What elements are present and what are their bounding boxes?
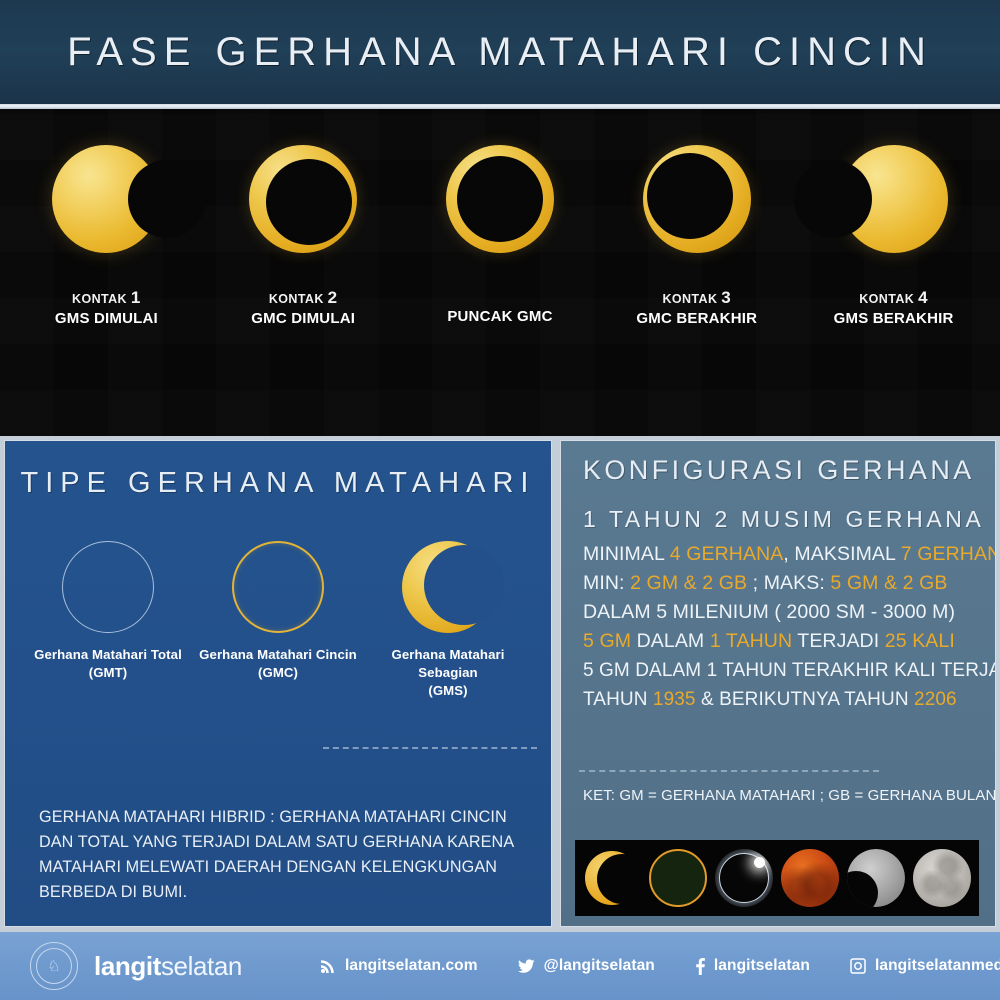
- value-year-next: 2206: [914, 689, 957, 710]
- type-abbr: (GMC): [196, 664, 361, 682]
- annular-solar-eclipse-photo: [649, 849, 707, 907]
- text-prefix: MIN:: [583, 572, 630, 594]
- config-line-terakhir-1: 5 GM DALAM 1 TAHUN TERAKHIR KALI TERJADI: [583, 656, 977, 685]
- contact-label: KONTAK: [859, 292, 914, 306]
- phase-caption: KONTAK 4 GMS BERAKHIR: [799, 289, 989, 329]
- eclipse-phases-section: KONTAK 1 GMS DIMULAI KONTAK 2: [0, 109, 1000, 436]
- seal-inner-ring: ♘: [36, 948, 72, 984]
- contact-label: KONTAK: [72, 292, 127, 306]
- social-link-instagram[interactable]: langitselatanmedia: [850, 957, 1000, 975]
- type-item-gmc: Gerhana Matahari Cincin (GMC): [196, 528, 361, 682]
- type-abbr: (GMT): [26, 664, 191, 682]
- annular-ring-icon: [249, 145, 357, 253]
- partial-sun-bite-left-icon: [840, 145, 948, 253]
- config-line-terakhir-2: TAHUN 1935 & BERIKUTNYA TAHUN 2206: [583, 685, 977, 714]
- phase-art: [208, 109, 398, 289]
- facebook-icon: [695, 958, 705, 975]
- social-link-label: @langitselatan: [544, 957, 655, 975]
- type-item-gms: Gerhana Matahari Sebagian (GMS): [366, 528, 531, 700]
- phase-item-puncak: PUNCAK GMC: [405, 109, 595, 327]
- phase-item-kontak-1: KONTAK 1 GMS DIMULAI: [11, 109, 201, 329]
- config-legend-note: KET: GM = GERHANA MATAHARI ; GB = GERHAN…: [583, 787, 985, 804]
- value-25-kali: 25 KALI: [885, 630, 955, 652]
- phase-caption: KONTAK 2 GMC DIMULAI: [208, 289, 398, 329]
- value-year-last: 1935: [653, 689, 696, 710]
- phase-name: GMS DIMULAI: [11, 309, 201, 329]
- annular-ring-icon: [643, 145, 751, 253]
- type-name: Gerhana Matahari Cincin: [196, 646, 361, 664]
- phase-art: [799, 109, 989, 289]
- right-panel-divider: [579, 770, 879, 772]
- social-link-label: langitselatanmedia: [875, 957, 1000, 975]
- infographic-poster: FASE GERHANA MATAHARI CINCIN KONTAK 1 GM…: [0, 0, 1000, 1000]
- contact-label: KONTAK: [269, 292, 324, 306]
- type-abbr: (GMS): [366, 682, 531, 700]
- config-headline: 1 TAHUN 2 MUSIM GERHANA: [583, 506, 977, 533]
- type-name: Gerhana Matahari Total: [26, 646, 191, 664]
- rider-glyph-icon: ♘: [47, 959, 60, 974]
- total-eclipse-circle-icon: [62, 541, 154, 633]
- type-item-gmt: Gerhana Matahari Total (GMT): [26, 528, 191, 682]
- text-mid: , MAKSIMAL: [783, 543, 900, 565]
- config-line-minmax: MINIMAL 4 GERHANA, MAKSIMAL 7 GERHANA: [583, 540, 977, 569]
- social-links: langitselatan.com @langitselatan langits…: [320, 957, 1000, 975]
- twitter-icon: [518, 959, 535, 974]
- phase-item-kontak-2: KONTAK 2 GMC DIMULAI: [208, 109, 398, 329]
- social-link-twitter[interactable]: @langitselatan: [518, 957, 655, 975]
- moon-shadow: [647, 153, 733, 239]
- hybrid-eclipse-note: GERHANA MATAHARI HIBRID : GERHANA MATAHA…: [39, 805, 525, 905]
- annular-ring-centered-icon: [446, 145, 554, 253]
- types-panel: TIPE GERHANA MATAHARI Gerhana Matahari T…: [4, 440, 552, 927]
- brand-logo[interactable]: ♘ langitselatan: [30, 942, 242, 990]
- phase-art: [11, 109, 201, 289]
- contact-number: 3: [721, 288, 731, 307]
- eclipse-photo-gallery: [575, 840, 979, 916]
- phase-art: [602, 109, 792, 289]
- moon-shadow: [597, 854, 641, 904]
- contact-number: 1: [131, 288, 141, 307]
- value-1-tahun: 1 TAHUN: [710, 630, 792, 652]
- text-prefix: MINIMAL: [583, 543, 670, 565]
- config-line-5gm: 5 GM DALAM 1 TAHUN TERJADI 25 KALI: [583, 627, 977, 656]
- value-max-eclipses: 7 GERHANA: [901, 543, 996, 565]
- phase-name: GMC BERAKHIR: [602, 309, 792, 329]
- config-line-minmaks-gm-gb: MIN: 2 GM & 2 GB ; MAKS: 5 GM & 2 GB: [583, 569, 977, 598]
- phase-caption: KONTAK 3 GMC BERAKHIR: [602, 289, 792, 329]
- text-mid: ; MAKS:: [747, 572, 830, 594]
- value-min-gm-gb: 2 GM & 2 GB: [630, 572, 747, 594]
- config-lines: 1 TAHUN 2 MUSIM GERHANA MINIMAL 4 GERHAN…: [561, 500, 995, 714]
- phase-contact-line: KONTAK 1: [11, 289, 201, 308]
- full-moon-photo: [913, 849, 971, 907]
- phase-contact-line: KONTAK 4: [799, 289, 989, 308]
- moon-shadow: [266, 159, 352, 245]
- type-name: Gerhana Matahari Sebagian: [366, 646, 531, 682]
- phase-item-kontak-3: KONTAK 3 GMC BERAKHIR: [602, 109, 792, 329]
- brand-name-bold: langit: [94, 951, 161, 981]
- config-panel-title: KONFIGURASI GERHANA: [561, 455, 995, 486]
- type-art: [26, 528, 191, 646]
- phase-art: [405, 109, 595, 289]
- text-prefix: TAHUN: [583, 689, 653, 710]
- phase-contact-line: KONTAK 3: [602, 289, 792, 308]
- social-link-website[interactable]: langitselatan.com: [320, 957, 478, 975]
- config-panel: KONFIGURASI GERHANA 1 TAHUN 2 MUSIM GERH…: [560, 440, 996, 927]
- contact-label: KONTAK: [662, 292, 717, 306]
- brand-name-light: selatan: [161, 951, 242, 981]
- text-mid: & BERIKUTNYA TAHUN: [696, 689, 914, 710]
- social-link-label: langitselatan: [714, 957, 810, 975]
- contact-number: 4: [918, 288, 928, 307]
- config-line-milenium: DALAM 5 MILENIUM ( 2000 SM - 3000 M): [583, 598, 977, 627]
- langitselatan-seal-icon: ♘: [30, 942, 78, 990]
- eclipse-types-row: Gerhana Matahari Total (GMT) Gerhana Mat…: [5, 528, 551, 700]
- phase-caption: PUNCAK GMC: [405, 307, 595, 327]
- instagram-icon: [850, 958, 866, 974]
- moon-shadow: [457, 156, 543, 242]
- social-link-label: langitselatan.com: [345, 957, 478, 975]
- value-min-eclipses: 4 GERHANA: [670, 543, 784, 565]
- lower-panels: TIPE GERHANA MATAHARI Gerhana Matahari T…: [0, 440, 1000, 927]
- phase-contact-line: KONTAK 2: [208, 289, 398, 308]
- social-link-facebook[interactable]: langitselatan: [695, 957, 810, 975]
- rss-icon: [320, 958, 336, 974]
- phase-item-kontak-4: KONTAK 4 GMS BERAKHIR: [799, 109, 989, 329]
- type-art: [366, 528, 531, 646]
- blood-moon-lunar-eclipse-photo: [781, 849, 839, 907]
- value-max-gm-gb: 5 GM & 2 GB: [830, 572, 947, 594]
- text-mid-1: DALAM: [631, 630, 710, 652]
- phase-name: GMS BERAKHIR: [799, 309, 989, 329]
- phase-caption: KONTAK 1 GMS DIMULAI: [11, 289, 201, 329]
- phase-name: PUNCAK GMC: [405, 307, 595, 327]
- phase-row: KONTAK 1 GMS DIMULAI KONTAK 2: [0, 109, 1000, 436]
- moon-shadow: [128, 160, 206, 238]
- types-panel-title: TIPE GERHANA MATAHARI: [5, 467, 551, 500]
- contact-number: 2: [328, 288, 338, 307]
- crescent-solar-eclipse-photo: [583, 849, 641, 907]
- value-5gm: 5 GM: [583, 630, 631, 652]
- text-mid-2: TERJADI: [792, 630, 885, 652]
- moon-shadow: [794, 160, 872, 238]
- type-art: [196, 528, 361, 646]
- moon-shadow: [424, 545, 504, 625]
- crescent-sun-icon: [402, 541, 494, 633]
- poster-footer: ♘ langitselatan langitselatan.com @langi…: [0, 932, 1000, 1000]
- annular-ring-outline-icon: [232, 541, 324, 633]
- brand-name: langitselatan: [94, 951, 242, 982]
- diamond-ring-flash: [754, 857, 765, 868]
- page-title: FASE GERHANA MATAHARI CINCIN: [67, 30, 933, 75]
- left-panel-divider: [323, 747, 537, 749]
- phase-name: GMC DIMULAI: [208, 309, 398, 329]
- poster-header: FASE GERHANA MATAHARI CINCIN: [0, 0, 1000, 104]
- total-solar-eclipse-photo: [715, 849, 773, 907]
- partial-lunar-eclipse-photo: [847, 849, 905, 907]
- partial-sun-bite-right-icon: [52, 145, 160, 253]
